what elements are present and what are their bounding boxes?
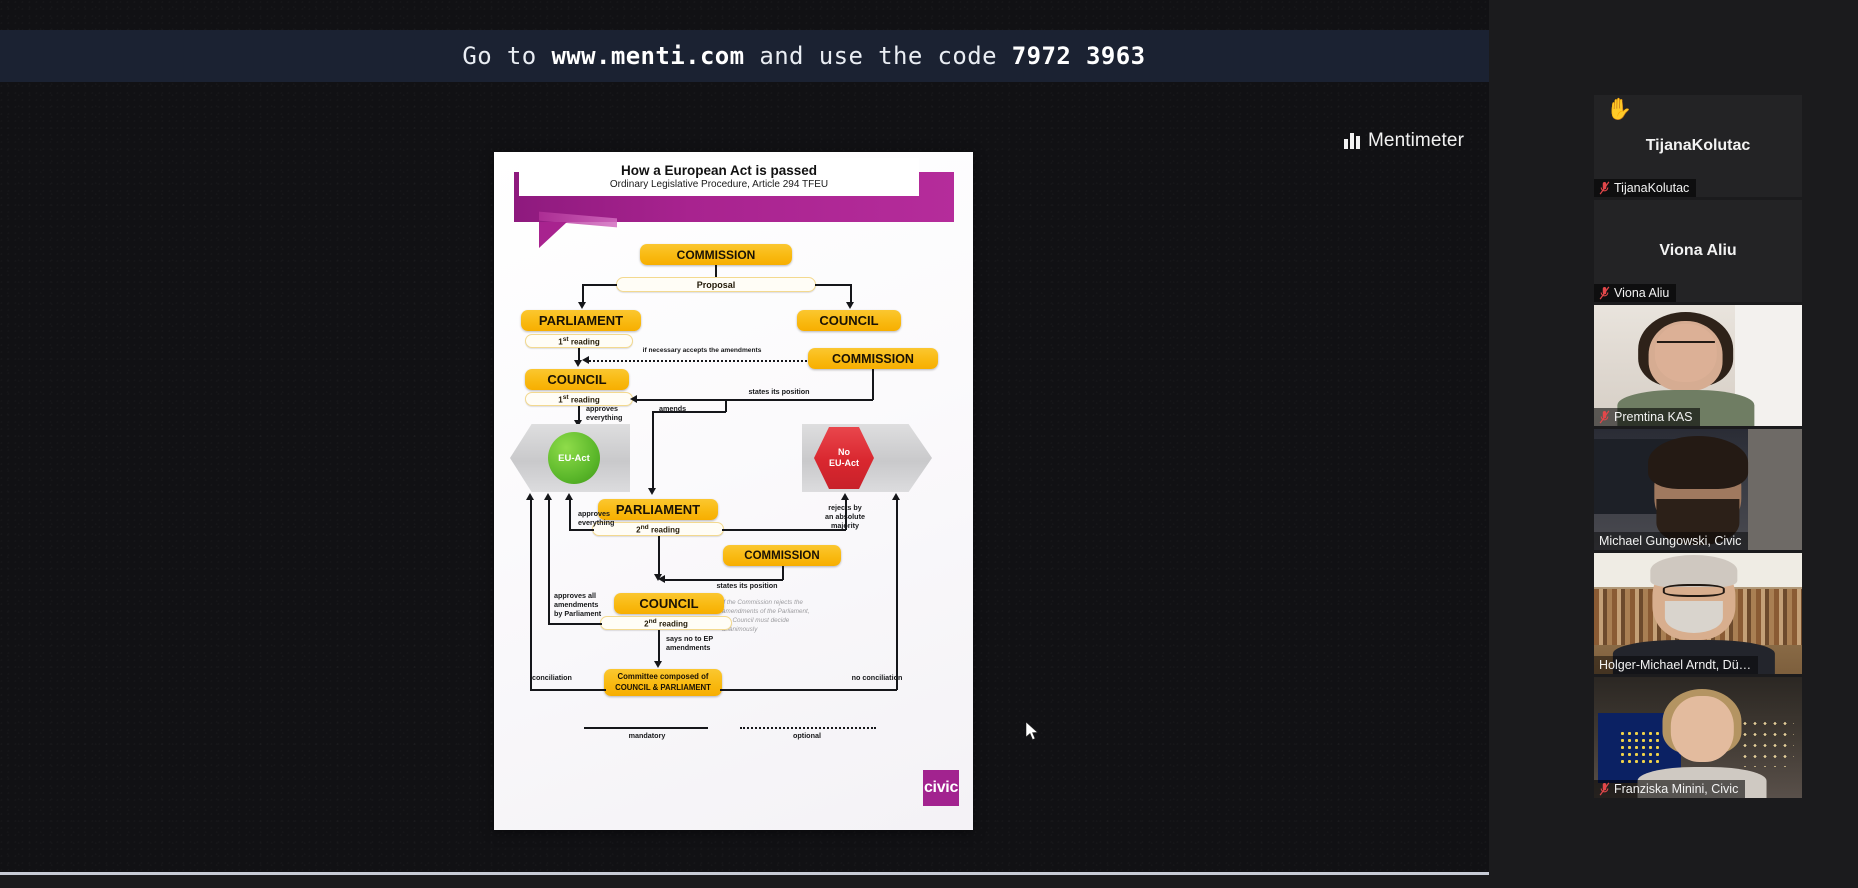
line-proposal-split xyxy=(582,284,617,286)
label-says-no: says no to EP amendments xyxy=(666,635,736,653)
node-commission-top: COMMISSION xyxy=(640,244,792,265)
label-states-position-1: states its position xyxy=(724,388,834,397)
node-council-1: COUNCIL xyxy=(525,369,629,390)
mentimeter-wordmark: Mentimeter xyxy=(1368,130,1464,152)
meeting-window: Go to www.menti.com and use the code 797… xyxy=(0,0,1858,888)
label-approves-everything-2: approves everything xyxy=(578,510,638,528)
committee-line1: Committee composed of xyxy=(618,672,709,682)
participant-tile-tijanakolutac[interactable]: ✋ TijanaKolutac TijanaKolutac xyxy=(1594,95,1802,197)
legend-mandatory-label: mandatory xyxy=(602,732,692,741)
participant-name: Franziska Minini, Civic xyxy=(1614,782,1738,796)
participant-name: Michael Gungowski, Civic xyxy=(1599,534,1741,548)
arrow-to-parliament-1 xyxy=(578,302,586,309)
mentimeter-logo: Mentimeter xyxy=(1344,130,1464,152)
label-amends: amends xyxy=(659,405,709,414)
arrow-p2-approves-up xyxy=(565,493,573,500)
shape-eu-act-circle: EU-Act xyxy=(548,432,600,484)
presentation-slide: How a European Act is passed Ordinary Le… xyxy=(494,152,973,830)
participant-name: Viona Aliu xyxy=(1614,286,1669,300)
line-proposal-down-right xyxy=(850,284,852,304)
label-states-position-2: states its position xyxy=(692,582,802,591)
participant-nametag: Franziska Minini, Civic xyxy=(1594,780,1745,798)
line-proposal-down-left xyxy=(582,284,584,304)
legend-optional-line xyxy=(740,727,876,729)
legislative-flowchart: How a European Act is passed Ordinary Le… xyxy=(494,152,973,830)
slide-title-box: How a European Act is passed Ordinary Le… xyxy=(519,158,919,196)
menti-url: www.menti.com xyxy=(551,42,744,70)
label-approves-everything-1: approves everything xyxy=(586,405,646,423)
title-banner-tail xyxy=(539,222,567,248)
no-eu-act-line1: No xyxy=(838,447,850,458)
reading-2a-label: 2nd reading xyxy=(636,524,680,535)
mic-muted-icon xyxy=(1599,410,1610,424)
node-commission-2: COMMISSION xyxy=(723,545,841,566)
participant-initials-name: Viona Aliu xyxy=(1659,242,1736,260)
bar-chart-icon xyxy=(1344,133,1360,149)
node-parliament-1: PARLIAMENT xyxy=(521,310,641,331)
shared-screen-bottom-border xyxy=(0,872,1489,875)
line-states-position-1 xyxy=(637,399,873,401)
reading-1b-label: 1st reading xyxy=(558,394,600,405)
label-rejects-absolute: rejects by an absolute majority xyxy=(816,504,874,530)
mic-muted-icon xyxy=(1599,782,1610,796)
node-proposal: Proposal xyxy=(616,277,816,292)
mic-muted-icon xyxy=(1599,286,1610,300)
participant-tile-viona-aliu[interactable]: Viona Aliu Viona Aliu xyxy=(1594,200,1802,302)
label-conciliation: conciliation xyxy=(532,674,602,683)
participant-tile-michael-gungowski[interactable]: Michael Gungowski, Civic xyxy=(1594,429,1802,550)
arrow-to-council-right xyxy=(846,302,854,309)
participant-nametag: Michael Gungowski, Civic xyxy=(1594,532,1748,550)
menti-code: 7972 3963 xyxy=(1012,42,1146,70)
civic-wordmark: civic xyxy=(924,779,958,797)
participant-initials-name: TijanaKolutac xyxy=(1646,137,1751,155)
arrow-p2-rejects-up xyxy=(841,493,849,500)
node-committee: Committee composed of COUNCIL & PARLIAME… xyxy=(604,669,722,696)
legend-optional-label: optional xyxy=(762,732,852,741)
arrow-amends-parliament2 xyxy=(648,488,656,495)
raised-hand-icon: ✋ xyxy=(1606,99,1632,120)
line-c2-to-committee xyxy=(658,630,660,664)
line-no-conciliation-v xyxy=(896,500,898,690)
line-c2-approves-h xyxy=(548,623,602,625)
arrow-amendments-left xyxy=(582,356,589,364)
label-if-necessary: if necessary accepts the amendments xyxy=(612,347,792,355)
line-proposal-split-right xyxy=(815,284,851,286)
participant-nametag: Viona Aliu xyxy=(1594,284,1676,302)
banner-prefix: Go to xyxy=(462,42,551,70)
participant-nametag: TijanaKolutac xyxy=(1594,179,1696,197)
arrow-no-conciliation-up xyxy=(892,493,900,500)
arrow-c2-to-committee xyxy=(654,661,662,668)
mouse-pointer-icon xyxy=(1026,722,1040,742)
label-approves-all: approves all amendments by Parliament xyxy=(554,592,624,618)
line-p2-to-council2 xyxy=(658,536,660,577)
line-conciliation-v xyxy=(530,500,532,690)
participant-tile-premtina-kas[interactable]: Premtina KAS xyxy=(1594,305,1802,426)
label-commission-note: if the Commission rejects the amendments… xyxy=(722,598,810,635)
banner-middle: and use the code xyxy=(745,42,1012,70)
participant-nametag: Holger-Michael Arndt, Dü… xyxy=(1594,656,1758,674)
menti-code-text: Go to www.menti.com and use the code 797… xyxy=(344,14,1146,98)
participant-tile-holger-michael-arndt[interactable]: Holger-Michael Arndt, Dü… xyxy=(1594,553,1802,674)
line-p2-approves-h xyxy=(569,529,594,531)
line-commission-proposal xyxy=(715,265,717,277)
node-commission-right: COMMISSION xyxy=(808,348,938,369)
committee-line2: COUNCIL & PARLIAMENT xyxy=(615,683,711,693)
line-commission-right-down xyxy=(872,369,874,400)
node-council-right: COUNCIL xyxy=(797,310,901,331)
eu-act-label: EU-Act xyxy=(558,453,590,464)
arrow-states-position-1 xyxy=(630,395,637,403)
participant-nametag: Premtina KAS xyxy=(1594,408,1700,426)
line-amends-down xyxy=(652,411,654,491)
participant-name: TijanaKolutac xyxy=(1614,181,1689,195)
arrow-to-council-1 xyxy=(574,360,582,367)
pill-reading-1a: 1st reading xyxy=(525,334,633,348)
arrow-states-position-2 xyxy=(658,575,665,583)
arrow-c2-approves-up xyxy=(544,493,552,500)
reading-1a-label: 1st reading xyxy=(558,336,600,347)
dotted-amendments-line xyxy=(589,360,807,362)
label-no-conciliation: no conciliation xyxy=(834,674,920,683)
line-commission2-down xyxy=(782,566,784,580)
reading-2b-label: 2nd reading xyxy=(644,618,688,629)
civic-logo: civic xyxy=(923,770,959,806)
menti-code-banner: Go to www.menti.com and use the code 797… xyxy=(0,30,1489,82)
slide-subtitle: Ordinary Legislative Procedure, Article … xyxy=(610,179,828,191)
participant-strip[interactable]: ✋ TijanaKolutac TijanaKolutac Viona Aliu xyxy=(1594,95,1802,801)
participant-name: Premtina KAS xyxy=(1614,410,1693,424)
participant-name: Holger-Michael Arndt, Dü… xyxy=(1599,658,1751,672)
mic-muted-icon xyxy=(1599,181,1610,195)
slide-title: How a European Act is passed xyxy=(621,163,817,179)
no-eu-act-line2: EU-Act xyxy=(829,458,859,469)
line-c2-approves-v xyxy=(548,500,550,624)
arrow-conciliation-up xyxy=(526,493,534,500)
node-council-2: COUNCIL xyxy=(614,593,724,614)
shared-screen-region: Go to www.menti.com and use the code 797… xyxy=(0,0,1489,874)
line-no-conciliation-h xyxy=(720,689,897,691)
line-conciliation-h xyxy=(530,689,606,691)
line-p2-approves-v xyxy=(569,500,571,530)
participant-tile-franziska-minini[interactable]: Franziska Minini, Civic xyxy=(1594,677,1802,798)
legend-mandatory-line xyxy=(584,727,708,729)
